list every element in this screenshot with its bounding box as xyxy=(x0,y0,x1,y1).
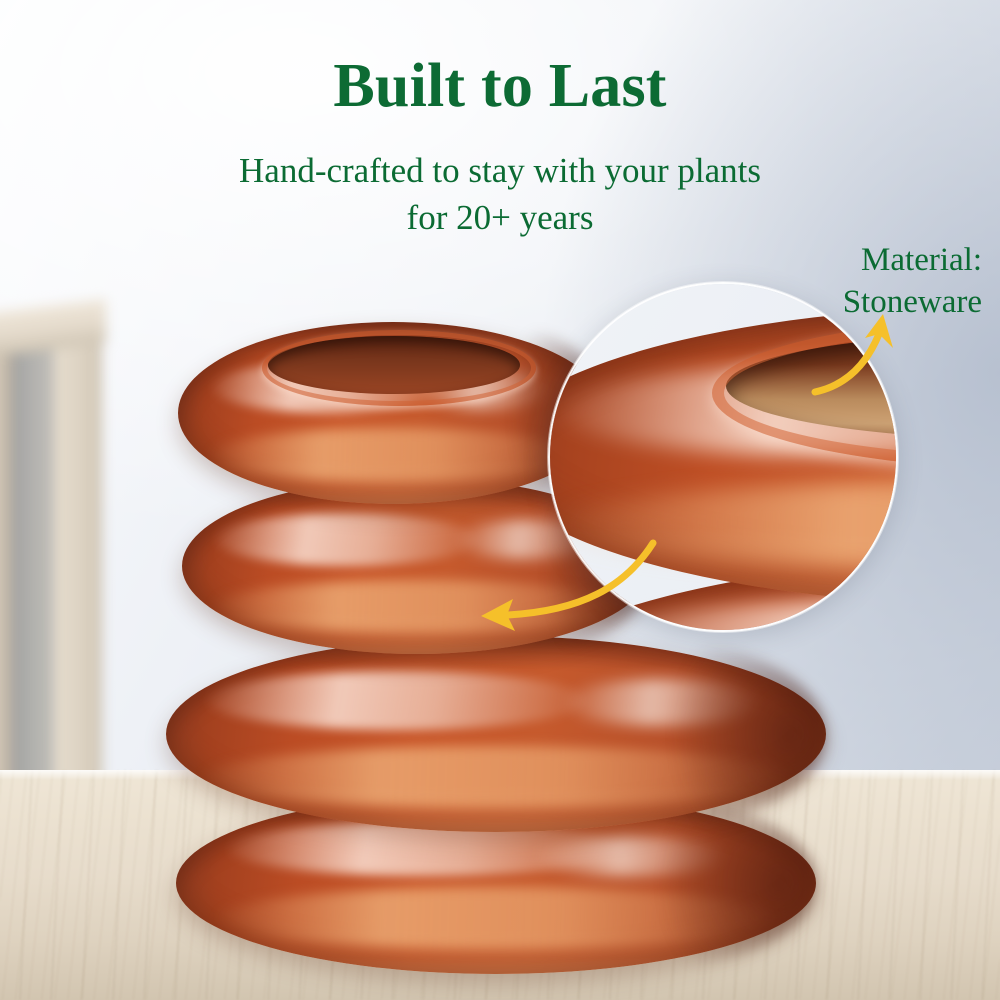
material-callout-line-2: Stoneware xyxy=(843,282,982,324)
planter-ring-third xyxy=(166,636,826,832)
curved-arrow-pointing-left xyxy=(455,525,675,645)
ring-secondary-highlight xyxy=(562,679,760,726)
ring-warm-band xyxy=(208,428,578,483)
subtitle-line-1: Hand-crafted to stay with your plants xyxy=(0,148,1000,195)
material-callout: Material: Stoneware xyxy=(843,240,982,323)
page-headline: Built to Last xyxy=(0,54,1000,119)
ring-warm-band xyxy=(199,746,793,809)
product-marketing-image: Built to Last Hand-crafted to stay with … xyxy=(0,0,1000,1000)
page-subtitle: Hand-crafted to stay with your plants fo… xyxy=(0,148,1000,241)
subtitle-line-2: for 20+ years xyxy=(0,195,1000,242)
ring-side-shade xyxy=(522,644,826,824)
ring-gloss-highlight xyxy=(206,671,589,730)
ring-secondary-highlight xyxy=(534,836,726,876)
planter-rim xyxy=(262,330,536,406)
material-callout-line-1: Material: xyxy=(843,240,982,282)
curved-arrow-pointing-up-right xyxy=(805,310,935,430)
ring-warm-band xyxy=(214,887,777,949)
headline-text: Built to Last xyxy=(333,52,666,120)
ring-gloss-highlight xyxy=(215,513,478,566)
